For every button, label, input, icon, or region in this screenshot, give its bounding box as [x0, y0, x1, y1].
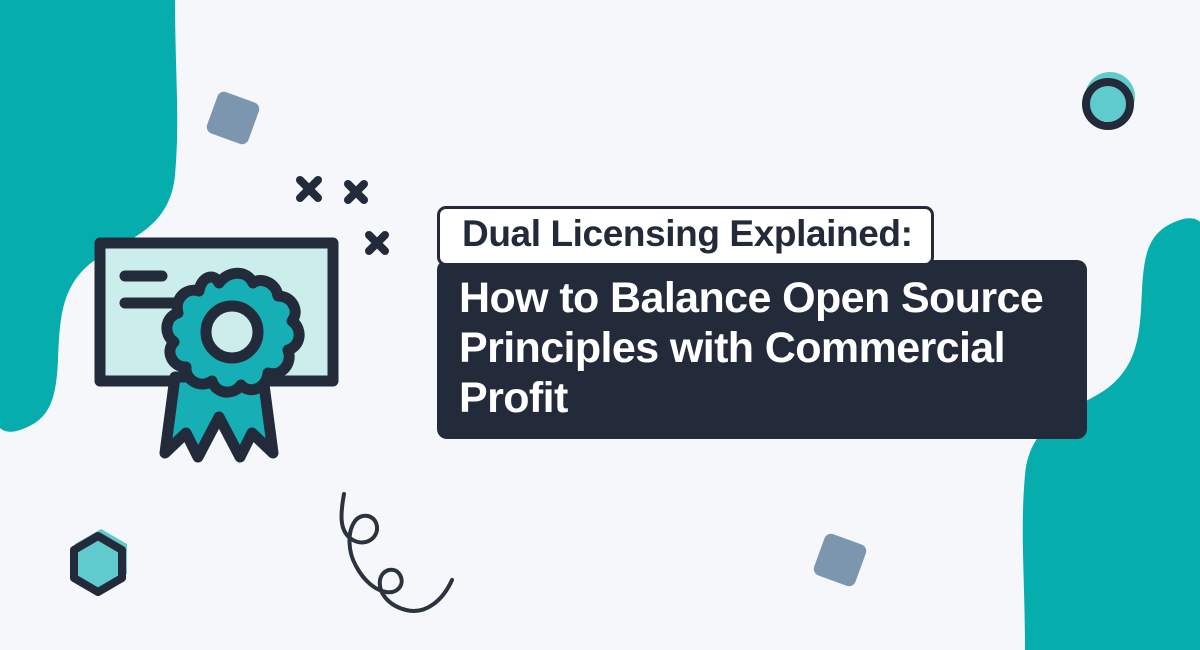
diamond-bottom-center [812, 532, 868, 588]
diamond-top-left [205, 90, 261, 146]
squiggle-bottom [342, 494, 452, 611]
eyebrow-box: Dual Licensing Explained: [437, 206, 934, 266]
certificate-illustration [80, 225, 355, 475]
title-block: Dual Licensing Explained: How to Balance… [437, 206, 1137, 439]
banner-canvas: Dual Licensing Explained: How to Balance… [0, 0, 1200, 650]
eyebrow-text: Dual Licensing Explained: [462, 215, 913, 254]
hexagon-bottom-left-outline [74, 536, 122, 592]
hexagon-bottom-left-fill [75, 529, 127, 589]
award-badge-center [206, 306, 258, 358]
cross-mark-1 [300, 180, 318, 198]
headline-box: How to Balance Open Source Principles wi… [437, 260, 1087, 440]
cross-mark-2 [348, 184, 364, 200]
headline-text: How to Balance Open Source Principles wi… [459, 274, 1065, 424]
circle-top-right-fill [1085, 72, 1135, 122]
cross-mark-3 [369, 235, 385, 251]
circle-top-right-ring [1086, 82, 1130, 126]
